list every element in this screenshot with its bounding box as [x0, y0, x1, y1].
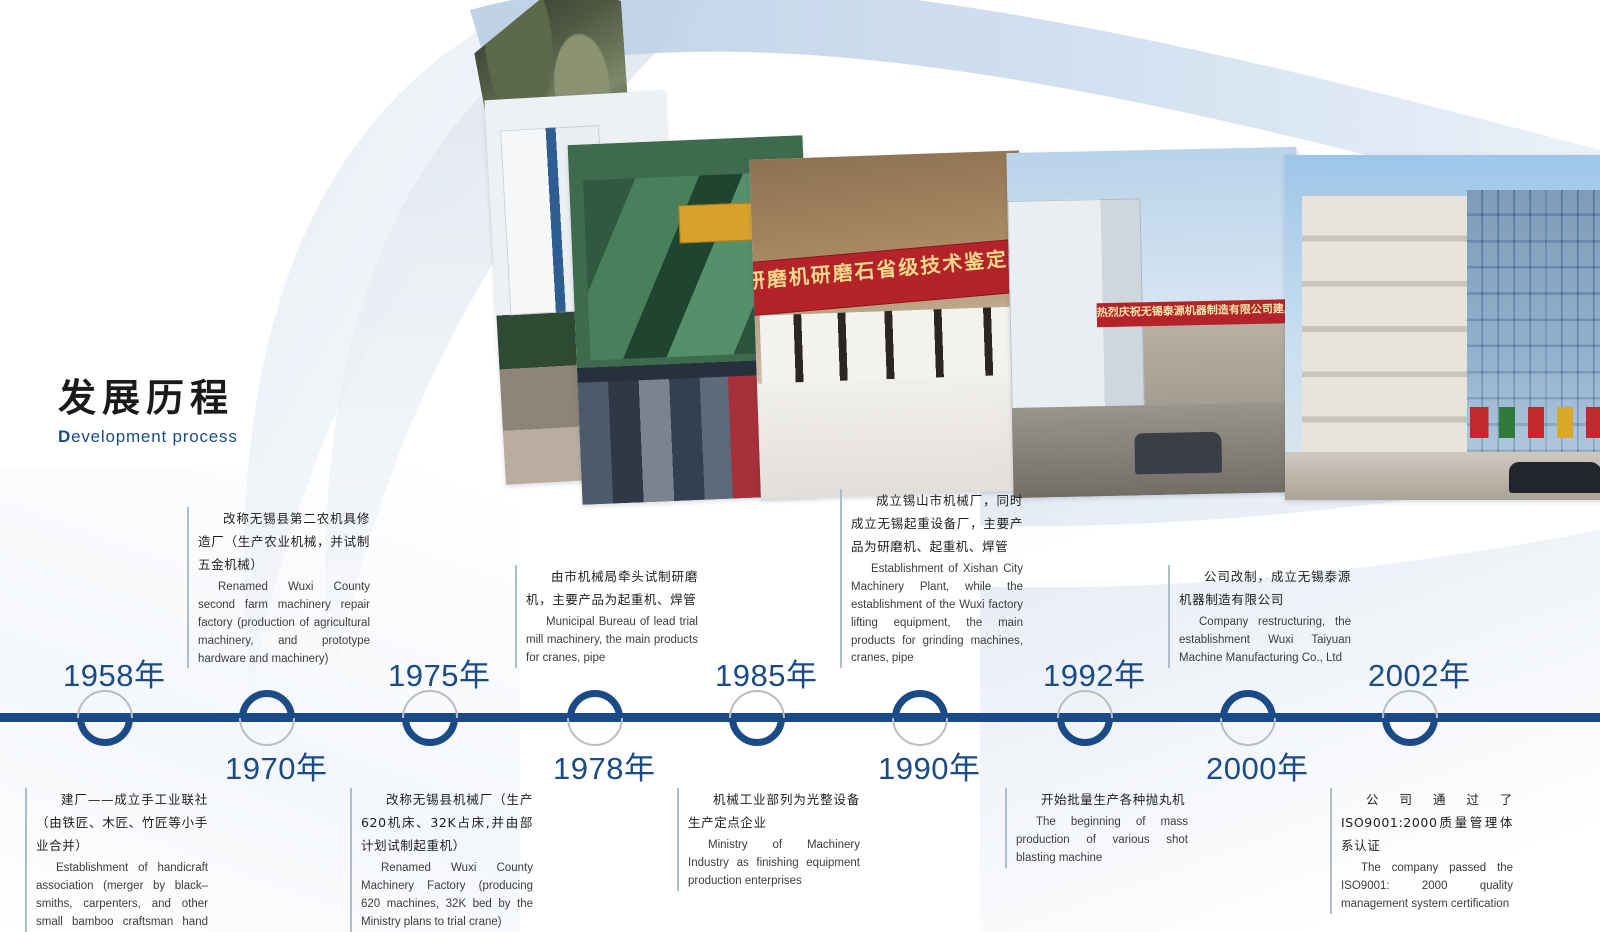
- factory-gate-photo: 热烈庆祝无锡泰源机器制造有限公司建厂50周年: [1006, 147, 1303, 498]
- event-text-en: The company passed the ISO9001: 2000 qua…: [1341, 860, 1513, 913]
- page-title: 发展历程: [58, 378, 238, 420]
- timeline-year-label: 2002年: [1368, 650, 1470, 695]
- timeline-year-label: 1970年: [225, 743, 327, 788]
- page-subtitle-initial: D: [58, 427, 71, 446]
- event-text-en: Renamed Wuxi County Machinery Factory (p…: [361, 860, 533, 931]
- event-text-cn: 机械工业部列为光整设备生产定点企业: [688, 788, 860, 834]
- development-process-page: 研磨机研磨石省级技术鉴定会 热烈庆祝无锡泰源机器制造有限公司建厂50周年: [0, 0, 1600, 932]
- event-text-en: The beginning of mass production of vari…: [1016, 814, 1188, 867]
- timeline-node-1970[interactable]: [239, 690, 295, 746]
- timeline-year-label: 1978年: [553, 743, 655, 788]
- event-text-cn: 改称无锡县第二农机具修造厂（生产农业机械，并试制五金机械）: [198, 507, 370, 576]
- timeline-year-label: 1975年: [388, 650, 490, 695]
- timeline-event-1975: 改称无锡县机械厂（生产620机床、32K占床,并由部计划试制起重机）Rename…: [350, 788, 533, 932]
- conference-banner-text: 研磨机研磨石省级技术鉴定会: [749, 238, 1031, 301]
- event-text-cn: 由市机械局牵头试制研磨机，主要产品为起重机、焊管: [526, 565, 698, 611]
- event-text-cn: 开始批量生产各种抛丸机: [1016, 788, 1188, 811]
- timeline-event-2002: 公司通过了ISO9001:2000质量管理体系认证The company pas…: [1330, 788, 1513, 914]
- timeline-node-1985[interactable]: [729, 690, 785, 746]
- timeline-event-1978: 由市机械局牵头试制研磨机，主要产品为起重机、焊管Municipal Bureau…: [515, 565, 698, 668]
- page-title-block: 发展历程 Development process: [58, 378, 238, 447]
- photo-collage: 研磨机研磨石省级技术鉴定会 热烈庆祝无锡泰源机器制造有限公司建厂50周年: [330, 0, 1600, 510]
- timeline-node-2000[interactable]: [1220, 690, 1276, 746]
- office-building-photo: [1285, 155, 1600, 500]
- timeline-node-1992[interactable]: [1057, 690, 1113, 746]
- timeline-year-label: 1958年: [63, 650, 165, 695]
- timeline-event-1992: 开始批量生产各种抛丸机The beginning of mass product…: [1005, 788, 1188, 868]
- event-text-en: Ministry of Machinery Industry as finish…: [688, 837, 860, 890]
- event-text-cn: 成立锡山市机械厂，同时成立无锡起重设备厂，主要产品为研磨机、起重机、焊管: [851, 489, 1023, 558]
- event-text-en: Establishment of handicraft association …: [36, 860, 208, 932]
- timeline-year-label: 1985年: [715, 650, 817, 695]
- event-text-cn: 公司改制，成立无锡泰源机器制造有限公司: [1179, 565, 1351, 611]
- timeline-event-2000: 公司改制，成立无锡泰源机器制造有限公司Company restructuring…: [1168, 565, 1351, 668]
- timeline-year-label: 1992年: [1043, 650, 1145, 695]
- page-subtitle: Development process: [58, 427, 238, 447]
- timeline-event-1985: 机械工业部列为光整设备生产定点企业Ministry of Machinery I…: [677, 788, 860, 891]
- event-text-cn: 改称无锡县机械厂（生产620机床、32K占床,并由部计划试制起重机）: [361, 788, 533, 857]
- timeline-event-1990: 成立锡山市机械厂，同时成立无锡起重设备厂，主要产品为研磨机、起重机、焊管Esta…: [840, 489, 1023, 668]
- conference-banner: 研磨机研磨石省级技术鉴定会: [749, 238, 1031, 318]
- timeline-event-1958: 建厂——成立手工业联社（由铁匠、木匠、竹匠等小手业合并）Establishmen…: [25, 788, 208, 932]
- event-text-cn: 建厂——成立手工业联社（由铁匠、木匠、竹匠等小手业合并）: [36, 788, 208, 857]
- event-text-en: Company restructuring, the establishment…: [1179, 614, 1351, 667]
- factory-gate-banner: 热烈庆祝无锡泰源机器制造有限公司建厂50周年: [1097, 299, 1295, 327]
- page-subtitle-rest: evelopment process: [71, 427, 238, 446]
- conference-banner-photo: 研磨机研磨石省级技术鉴定会: [749, 150, 1031, 499]
- timeline-node-1975[interactable]: [402, 690, 458, 746]
- timeline-event-1970: 改称无锡县第二农机具修造厂（生产农业机械，并试制五金机械）Renamed Wux…: [187, 507, 370, 668]
- event-text-en: Municipal Bureau of lead trial mill mach…: [526, 614, 698, 667]
- timeline-node-1958[interactable]: [77, 690, 133, 746]
- event-text-en: Establishment of Xishan City Machinery P…: [851, 561, 1023, 668]
- event-text-cn: 公司通过了ISO9001:2000质量管理体系认证: [1341, 788, 1513, 857]
- timeline-node-2002[interactable]: [1382, 690, 1438, 746]
- timeline-node-1978[interactable]: [567, 690, 623, 746]
- timeline-node-1990[interactable]: [892, 690, 948, 746]
- factory-gate-banner-text: 热烈庆祝无锡泰源机器制造有限公司建厂50周年: [1097, 299, 1295, 324]
- event-text-en: Renamed Wuxi County second farm machiner…: [198, 579, 370, 668]
- timeline-year-label: 2000年: [1206, 743, 1308, 788]
- timeline-year-label: 1990年: [878, 743, 980, 788]
